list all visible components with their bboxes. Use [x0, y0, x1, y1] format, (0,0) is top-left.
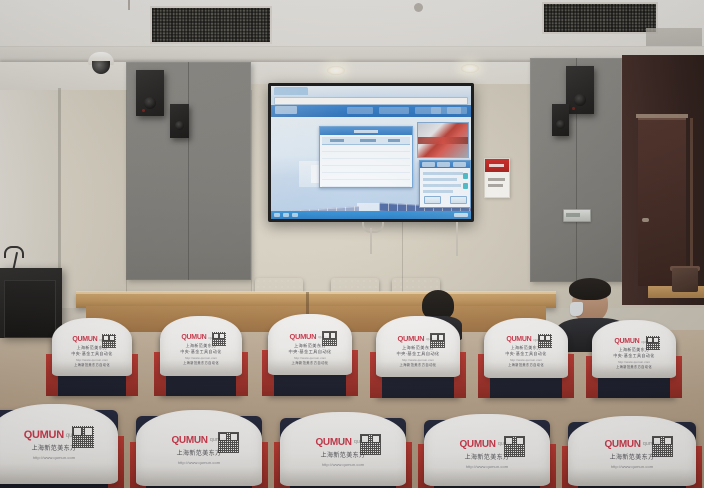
dialog-title-bar: [420, 161, 470, 168]
tv-screen[interactable]: [271, 86, 471, 219]
taskbar-item[interactable]: [292, 213, 298, 217]
brand-logo-text: QUMUN: [614, 338, 639, 345]
sign-body-line: [488, 178, 505, 181]
door-handle[interactable]: [642, 218, 649, 222]
browser-chrome: [271, 86, 471, 96]
branded-seat-cover: QUMUN qumun 上海新范美东方 中央·基金工具自动化 http://ww…: [592, 320, 676, 378]
taskbar-clock: [454, 213, 468, 217]
wall-joint: [126, 90, 127, 308]
cover-line-cn-3: 上海新范美东方自动化: [508, 364, 544, 367]
wall-strip-left: [60, 90, 126, 308]
cover-line-url: http://www.qumun.com: [322, 463, 364, 467]
ceiling-fixture-stub: [414, 3, 423, 12]
brand-logo-text: QUMUN: [171, 436, 207, 446]
cover-line-cn-2: 中央·基金工具自动化: [180, 350, 221, 354]
dialog-cancel-button[interactable]: [450, 196, 467, 204]
sign-header: [485, 159, 509, 172]
cover-line-url: http://www.qumun.com: [185, 357, 217, 360]
qr-code-icon: [538, 334, 552, 348]
table-row[interactable]: [322, 159, 410, 166]
speaker-led-icon: [572, 107, 575, 110]
attendee-hair: [569, 278, 611, 300]
app-data-window[interactable]: [319, 126, 413, 188]
waste-bin: [672, 268, 698, 292]
speaker-cone-icon: [574, 94, 586, 106]
taskbar-item[interactable]: [274, 213, 280, 217]
wall-speaker-left: [136, 70, 164, 116]
cover-line-cn-1: 上海新范美东方: [465, 455, 510, 461]
qr-code-icon: [212, 332, 226, 346]
brand-logo-text: QUMUN: [506, 336, 531, 343]
window-title-bar: [320, 127, 412, 135]
os-taskbar[interactable]: [271, 211, 471, 219]
tv-cable: [370, 228, 372, 254]
cover-line-cn-1: 上海新范美东方: [32, 446, 77, 452]
branded-seat-cover: QUMUN qumun 上海新范美东方 中央·基金工具自动化 http://ww…: [160, 316, 242, 376]
brand-logo-text: QUMUN: [397, 335, 424, 343]
dialog-body-line: [423, 184, 461, 187]
wall-notice-sign: [484, 158, 510, 198]
brand-logo-text: QUMUN: [459, 440, 495, 450]
cover-line-cn-3: 上海新范美东方自动化: [292, 362, 329, 365]
product-thumbnail-image[interactable]: [417, 122, 469, 158]
wall-mounted-television[interactable]: [268, 83, 474, 222]
sign-body-line: [488, 184, 503, 187]
tv-cable-secondary: [456, 222, 458, 256]
cover-shading: [136, 466, 262, 486]
cover-line-url: http://www.qumun.com: [178, 461, 220, 465]
app-nav-item[interactable]: [347, 107, 373, 114]
cover-line-url: http://www.qumun.com: [611, 465, 653, 469]
cover-line-cn-2: 中央·基金工具自动化: [505, 352, 546, 356]
branded-seat-cover: QUMUN qumun 上海新范美东方 中央·基金工具自动化 http://ww…: [484, 318, 568, 378]
cover-line-url: http://www.qumun.com: [466, 465, 508, 469]
wall-speaker-right: [566, 66, 594, 114]
branded-seat-cover: QUMUN qumun 上海新范美东方 中央·基金工具自动化 http://ww…: [376, 316, 460, 377]
cover-line-cn-3: 上海新范美东方自动化: [183, 362, 219, 365]
cover-line-url: http://www.qumun.com: [294, 357, 326, 360]
audience-chair[interactable]: QUMUN qumun 上海新范美东方 中央·基金工具自动化 http://ww…: [160, 316, 242, 396]
app-brand-logo: [275, 106, 297, 114]
cover-line-cn-2: 中央·基金工具自动化: [613, 354, 654, 358]
dialog-side-button[interactable]: [463, 183, 468, 189]
table-row[interactable]: [322, 173, 410, 180]
audience-chair-front[interactable]: QUMUN qumun 上海新范美东方 http://www.qumun.com: [136, 410, 262, 488]
cover-line-url: http://www.qumun.com: [510, 359, 542, 362]
speaker-cone-icon: [144, 97, 156, 109]
qr-code-icon: [218, 432, 239, 453]
audience-chair[interactable]: QUMUN qumun 上海新范美东方 中央·基金工具自动化 http://ww…: [52, 318, 132, 396]
cover-line-cn-1: 上海新范美东方: [511, 346, 542, 350]
cover-line-cn-1: 上海新范美东方: [619, 348, 650, 352]
downlight-icon: [461, 64, 479, 73]
branded-seat-cover: QUMUN qumun 上海新范美东方 http://www.qumun.com: [568, 416, 696, 486]
branded-seat-cover: QUMUN qumun 上海新范美东方 http://www.qumun.com: [136, 410, 262, 486]
cover-line-cn-3: 上海新范美东方自动化: [74, 364, 110, 367]
brand-logo-text: QUMUN: [289, 333, 316, 341]
downlight-icon: [327, 66, 345, 75]
sign-header-text: [489, 164, 504, 167]
column-header: [388, 139, 400, 142]
browser-address-bar[interactable]: [274, 97, 468, 105]
dialog-body-line: [423, 178, 457, 181]
cover-line-cn-1: 上海新范美东方: [610, 455, 655, 461]
room-door[interactable]: [638, 118, 686, 286]
cover-line-cn-1: 上海新范美东方: [177, 451, 222, 457]
air-conditioning-vent-left: [150, 6, 272, 44]
qr-code-icon: [72, 426, 94, 448]
window-title-text: [354, 130, 378, 133]
audience-chair-front[interactable]: QUMUN qumun 上海新范美东方 http://www.qumun.com: [280, 412, 406, 488]
column-header: [330, 139, 344, 142]
qr-code-icon: [322, 331, 337, 346]
qr-code-icon: [652, 436, 673, 457]
ceiling-pipe-drop: [128, 0, 130, 10]
dialog-body-line: [423, 172, 463, 175]
audience-chair-front[interactable]: QUMUN qumun 上海新范美东方 http://www.qumun.com: [568, 416, 696, 488]
brand-logo-text: QUMUN: [181, 334, 206, 341]
qr-code-icon: [102, 334, 116, 348]
qr-code-icon: [360, 434, 381, 455]
cover-line-cn-2: 中央·基金工具自动化: [288, 350, 331, 354]
dialog-confirm-button[interactable]: [424, 196, 441, 204]
dialog-body-line: [423, 190, 453, 193]
air-conditioning-vent-right: [542, 2, 658, 34]
app-account-area[interactable]: [431, 107, 467, 114]
column-header: [360, 139, 376, 142]
dialog-tab[interactable]: [422, 162, 435, 167]
app-nav-item[interactable]: [379, 107, 409, 114]
branded-seat-cover: QUMUN qumun 上海新范美东方 http://www.qumun.com: [0, 404, 118, 484]
brand-logo-text: QUMUN: [72, 336, 97, 343]
outlet-slot-icon: [566, 213, 580, 217]
audience-chair[interactable]: QUMUN qumun 上海新范美东方 中央·基金工具自动化 http://ww…: [376, 316, 460, 398]
cover-line-cn-2: 中央·基金工具自动化: [396, 352, 439, 356]
cover-shading: [568, 468, 696, 486]
panel-seam: [188, 62, 189, 280]
cover-shading: [280, 467, 406, 486]
audience-chair[interactable]: QUMUN qumun 上海新范美东方 中央·基金工具自动化 http://ww…: [592, 320, 676, 398]
audience-chair-front[interactable]: QUMUN qumun 上海新范美东方 http://www.qumun.com: [0, 404, 118, 488]
cover-line-url: http://www.qumun.com: [618, 361, 650, 364]
dialog-side-button[interactable]: [463, 173, 468, 179]
cover-line-url: http://www.qumun.com: [33, 456, 75, 460]
dialog-tab[interactable]: [437, 162, 450, 167]
audience-chair[interactable]: QUMUN qumun 上海新范美东方 中央·基金工具自动化 http://ww…: [484, 318, 568, 398]
thumbnail-highlight: [418, 137, 468, 144]
wall-speaker-left-secondary: [170, 104, 189, 138]
branded-seat-cover: QUMUN qumun 上海新范美东方 中央·基金工具自动化 http://ww…: [52, 318, 132, 376]
branded-seat-cover: QUMUN qumun 上海新范美东方 中央·基金工具自动化 http://ww…: [268, 314, 352, 375]
speaker-led-icon: [142, 109, 145, 112]
brand-logo-text: QUMUN: [315, 438, 351, 448]
wall-outlet-plate[interactable]: [563, 209, 591, 222]
microphone-gooseneck: [4, 246, 24, 258]
cover-line-url: http://www.qumun.com: [402, 359, 434, 362]
browser-tab[interactable]: [274, 87, 308, 95]
cover-shading: [0, 463, 118, 484]
branded-seat-cover: QUMUN qumun 上海新范美东方 http://www.qumun.com: [424, 414, 550, 486]
cover-line-cn-2: 中央·基金工具自动化: [71, 352, 112, 356]
lectern-face: [4, 280, 56, 338]
speaker-cone-icon: [556, 120, 565, 129]
conference-room-photo: QUMUN qumun 上海新范美东方 中央·基金工具自动化 http://ww…: [0, 0, 704, 488]
branded-seat-cover: QUMUN qumun 上海新范美东方 http://www.qumun.com: [280, 412, 406, 486]
dialog-tab[interactable]: [453, 162, 466, 167]
taskbar-item[interactable]: [283, 213, 289, 217]
table-row[interactable]: [322, 152, 410, 159]
qr-code-icon: [430, 333, 445, 348]
brand-logo-text: QUMUN: [604, 440, 640, 450]
table-row[interactable]: [322, 166, 410, 173]
speaker-cone-icon: [175, 121, 184, 130]
modal-dialog[interactable]: [419, 160, 471, 208]
cover-line-url: http://www.qumun.com: [76, 359, 108, 362]
qr-code-icon: [646, 336, 660, 350]
cover-shading: [424, 467, 550, 486]
brand-logo-text: QUMUN: [24, 430, 64, 441]
table-header-row: [322, 137, 410, 145]
table-row[interactable]: [322, 145, 410, 152]
table-edge-highlight: [76, 291, 556, 294]
face-mask: [570, 302, 583, 316]
wall-speaker-right-secondary: [552, 104, 569, 136]
cover-line-cn-3: 上海新范美东方自动化: [400, 364, 437, 367]
qr-code-icon: [504, 436, 525, 457]
audience-chair[interactable]: QUMUN qumun 上海新范美东方 中央·基金工具自动化 http://ww…: [268, 314, 352, 396]
cover-line-cn-3: 上海新范美东方自动化: [616, 366, 652, 369]
audience-chair-front[interactable]: QUMUN qumun 上海新范美东方 http://www.qumun.com: [424, 414, 550, 488]
table-row[interactable]: [322, 180, 410, 187]
door-jamb: [690, 118, 693, 286]
wall-joint: [251, 90, 252, 308]
cover-line-cn-1: 上海新范美东方: [321, 453, 366, 459]
